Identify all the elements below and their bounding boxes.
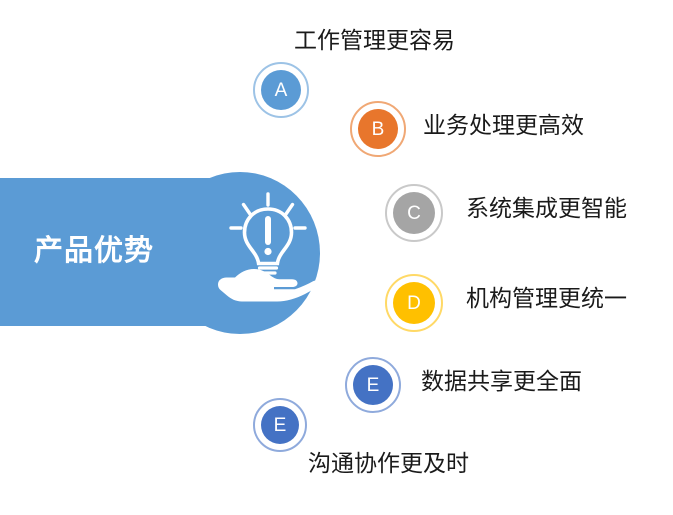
bubble-letter: E bbox=[274, 416, 287, 435]
bubble-letter: D bbox=[407, 294, 421, 313]
letter-bubble-6[interactable]: E bbox=[253, 398, 307, 452]
item-label-4: 机构管理更统一 bbox=[466, 285, 627, 313]
letter-bubble-1[interactable]: A bbox=[253, 62, 309, 118]
hand-holding-lightbulb-icon bbox=[216, 192, 320, 304]
item-label-1: 工作管理更容易 bbox=[294, 27, 455, 55]
bubble-letter: A bbox=[275, 81, 288, 100]
item-label-5: 数据共享更全面 bbox=[421, 368, 582, 396]
bubble-letter: E bbox=[367, 376, 380, 395]
item-label-3: 系统集成更智能 bbox=[466, 195, 627, 223]
letter-bubble-2[interactable]: B bbox=[350, 101, 406, 157]
slide-canvas: 产品优势 A工作管理更容易B业务处理更高 bbox=[0, 0, 673, 515]
bubble-letter: B bbox=[372, 120, 385, 139]
letter-bubble-3[interactable]: C bbox=[385, 184, 443, 242]
letter-bubble-5[interactable]: E bbox=[345, 357, 401, 413]
letter-bubble-4[interactable]: D bbox=[385, 274, 443, 332]
banner-title: 产品优势 bbox=[34, 236, 204, 268]
bubble-letter: C bbox=[407, 204, 421, 223]
item-label-6: 沟通协作更及时 bbox=[308, 450, 469, 478]
item-label-2: 业务处理更高效 bbox=[423, 112, 584, 140]
